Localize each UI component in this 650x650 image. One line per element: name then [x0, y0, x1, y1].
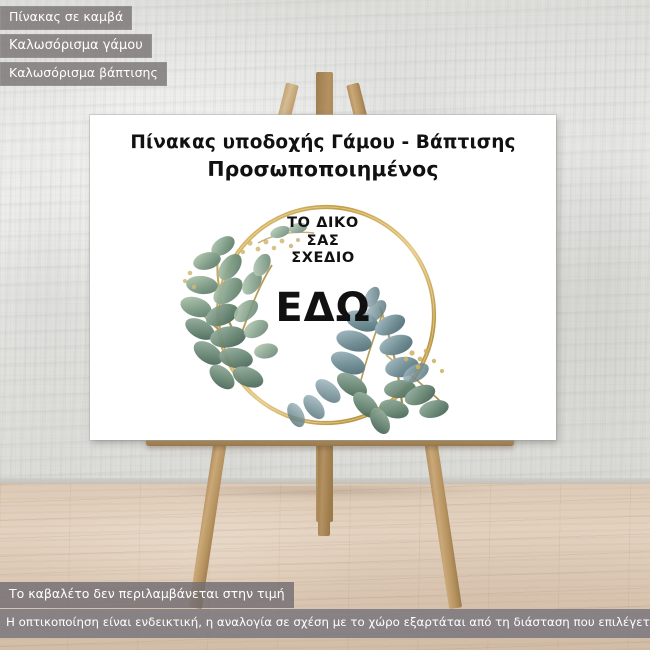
disclaimer-bar: Η οπτικοποίηση είναι ενδεικτική, η αναλο…	[0, 609, 650, 638]
easel-front-right-leg	[424, 439, 462, 609]
artwork-center-text: ΤΟ ΔΙΚΟ ΣΑΣ ΣΧΕΔΙΟ ΕΔΩ	[248, 215, 398, 333]
tag-label-canvas-print: Πίνακας σε καμβά	[0, 6, 132, 30]
easel-center-lower-leg	[318, 440, 330, 536]
center-line-1: ΤΟ ΔΙΚΟ	[248, 215, 398, 233]
tag-label-wedding-welcome: Καλωσόρισμα γάμου	[0, 34, 152, 58]
center-line-4: ΕΔΩ	[248, 284, 398, 333]
canvas-artwork[interactable]: Πίνακας υποδοχής Γάμου - Βάπτισης Προσωπ…	[90, 115, 556, 440]
note-easel-not-included: Το καβαλέτο δεν περιλαμβάνεται στην τιμή	[0, 582, 294, 608]
center-line-3: ΣΧΕΔΙΟ	[248, 250, 398, 268]
product-mockup-scene: Πίνακας υποδοχής Γάμου - Βάπτισης Προσωπ…	[0, 0, 650, 650]
tag-label-baptism-welcome: Καλωσόρισμα βάπτισης	[0, 62, 167, 86]
canvas-surface: Πίνακας υποδοχής Γάμου - Βάπτισης Προσωπ…	[90, 115, 556, 440]
center-line-2: ΣΑΣ	[248, 233, 398, 251]
